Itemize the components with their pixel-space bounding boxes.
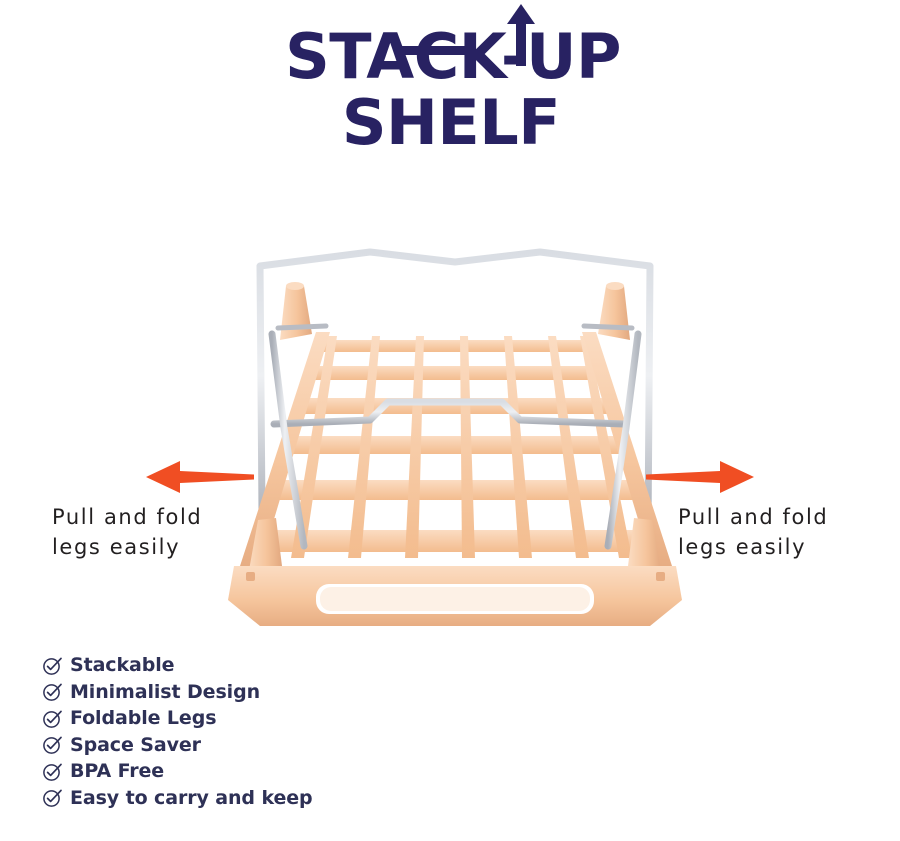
circled-check-icon (42, 734, 63, 755)
list-item: Space Saver (42, 732, 462, 759)
feature-label: Space Saver (70, 734, 201, 756)
up-arrow-icon-head (507, 4, 535, 24)
list-item: BPA Free (42, 758, 462, 785)
circled-check-icon (42, 787, 63, 808)
circled-check-icon (42, 681, 63, 702)
circled-check-icon (42, 708, 63, 729)
callout-left-text: Pull and fold legs easily (52, 502, 202, 563)
front-base-handle (228, 566, 682, 626)
feature-list: Stackable Minimalist Design Foldable Leg… (42, 652, 462, 811)
circled-check-icon (42, 655, 63, 676)
arrow-right-icon (646, 458, 754, 496)
title-line-shelf: SHELF (0, 92, 900, 154)
circled-check-icon (42, 761, 63, 782)
list-item: Easy to carry and keep (42, 785, 462, 812)
feature-label: Foldable Legs (70, 707, 216, 729)
feature-label: Minimalist Design (70, 681, 260, 703)
title-a-overbar (398, 46, 476, 55)
list-item: Minimalist Design (42, 679, 462, 706)
product-marketing-image: STACK-UP SHELF (0, 0, 900, 841)
feature-label: Easy to carry and keep (70, 787, 313, 809)
feature-label: Stackable (70, 654, 174, 676)
up-arrow-icon-shaft (516, 18, 526, 66)
product-photo (220, 228, 690, 648)
rear-posts (280, 282, 630, 340)
list-item: Stackable (42, 652, 462, 679)
list-item: Foldable Legs (42, 705, 462, 732)
feature-label: BPA Free (70, 760, 164, 782)
callout-right-text: Pull and fold legs easily (678, 502, 828, 563)
title-line-stack-up: STACK-UP (0, 26, 900, 88)
arrow-left-icon (146, 458, 254, 496)
